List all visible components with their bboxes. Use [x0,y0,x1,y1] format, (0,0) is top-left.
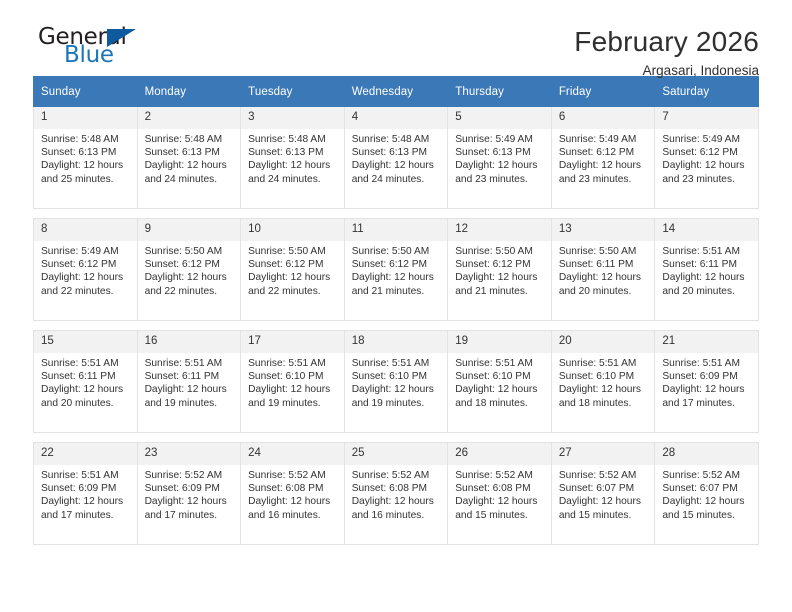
week-separator [34,209,759,219]
day-number: 19 [448,331,551,353]
sunrise-text: Sunrise: 5:52 AM [248,469,339,482]
sunrise-text: Sunrise: 5:52 AM [559,469,650,482]
day-details: Sunrise: 5:48 AM Sunset: 6:13 PM Dayligh… [241,129,344,186]
day-details: Sunrise: 5:49 AM Sunset: 6:12 PM Dayligh… [34,241,137,298]
day-number: 24 [241,443,344,465]
day-number: 17 [241,331,344,353]
daylight-text: Daylight: 12 hours and 21 minutes. [352,271,443,297]
calendar-week-row: 8 Sunrise: 5:49 AM Sunset: 6:12 PM Dayli… [34,219,759,321]
calendar-page: General Blue February 2026 Argasari, Ind… [0,0,792,612]
day-details: Sunrise: 5:50 AM Sunset: 6:12 PM Dayligh… [448,241,551,298]
day-cell[interactable]: 11 Sunrise: 5:50 AM Sunset: 6:12 PM Dayl… [344,219,448,321]
sunset-text: Sunset: 6:10 PM [352,370,443,383]
day-cell[interactable]: 8 Sunrise: 5:49 AM Sunset: 6:12 PM Dayli… [34,219,138,321]
day-details: Sunrise: 5:51 AM Sunset: 6:10 PM Dayligh… [448,353,551,410]
day-details: Sunrise: 5:50 AM Sunset: 6:12 PM Dayligh… [241,241,344,298]
page-subtitle: Argasari, Indonesia [574,63,759,79]
sunrise-text: Sunrise: 5:48 AM [352,133,443,146]
daylight-text: Daylight: 12 hours and 22 minutes. [41,271,132,297]
day-details: Sunrise: 5:49 AM Sunset: 6:13 PM Dayligh… [448,129,551,186]
column-header-monday: Monday [137,77,241,107]
sunrise-text: Sunrise: 5:49 AM [41,245,132,258]
sunrise-text: Sunrise: 5:51 AM [662,245,753,258]
day-number: 12 [448,219,551,241]
day-cell[interactable]: 21 Sunrise: 5:51 AM Sunset: 6:09 PM Dayl… [655,331,759,433]
sunrise-text: Sunrise: 5:50 AM [145,245,236,258]
day-details: Sunrise: 5:51 AM Sunset: 6:09 PM Dayligh… [34,465,137,522]
sunset-text: Sunset: 6:11 PM [41,370,132,383]
sunrise-text: Sunrise: 5:51 AM [662,357,753,370]
day-details: Sunrise: 5:50 AM Sunset: 6:12 PM Dayligh… [345,241,448,298]
daylight-text: Daylight: 12 hours and 15 minutes. [559,495,650,521]
sunset-text: Sunset: 6:12 PM [455,258,546,271]
sunset-text: Sunset: 6:13 PM [455,146,546,159]
sunset-text: Sunset: 6:12 PM [248,258,339,271]
sunset-text: Sunset: 6:07 PM [662,482,753,495]
sunrise-text: Sunrise: 5:48 AM [145,133,236,146]
day-details: Sunrise: 5:51 AM Sunset: 6:10 PM Dayligh… [552,353,655,410]
day-details: Sunrise: 5:50 AM Sunset: 6:12 PM Dayligh… [138,241,241,298]
day-number: 22 [34,443,137,465]
sunset-text: Sunset: 6:09 PM [41,482,132,495]
day-details: Sunrise: 5:52 AM Sunset: 6:08 PM Dayligh… [345,465,448,522]
day-cell[interactable]: 18 Sunrise: 5:51 AM Sunset: 6:10 PM Dayl… [344,331,448,433]
sunset-text: Sunset: 6:07 PM [559,482,650,495]
daylight-text: Daylight: 12 hours and 24 minutes. [352,159,443,185]
brand-logo[interactable]: General Blue [33,26,153,72]
day-details: Sunrise: 5:48 AM Sunset: 6:13 PM Dayligh… [138,129,241,186]
day-cell[interactable]: 19 Sunrise: 5:51 AM Sunset: 6:10 PM Dayl… [448,331,552,433]
daylight-text: Daylight: 12 hours and 23 minutes. [662,159,753,185]
column-header-tuesday: Tuesday [241,77,345,107]
day-cell[interactable]: 9 Sunrise: 5:50 AM Sunset: 6:12 PM Dayli… [137,219,241,321]
day-number: 4 [345,107,448,129]
sunset-text: Sunset: 6:10 PM [559,370,650,383]
calendar-week-row: 22 Sunrise: 5:51 AM Sunset: 6:09 PM Dayl… [34,443,759,545]
sunrise-text: Sunrise: 5:51 AM [41,357,132,370]
daylight-text: Daylight: 12 hours and 20 minutes. [41,383,132,409]
sunrise-text: Sunrise: 5:50 AM [352,245,443,258]
calendar-table: Sunday Monday Tuesday Wednesday Thursday… [33,76,759,545]
page-header: General Blue February 2026 Argasari, Ind… [33,0,759,72]
sunset-text: Sunset: 6:09 PM [662,370,753,383]
week-separator-cell [34,209,759,219]
week-separator [34,433,759,443]
sunrise-text: Sunrise: 5:51 AM [248,357,339,370]
day-cell[interactable]: 24 Sunrise: 5:52 AM Sunset: 6:08 PM Dayl… [241,443,345,545]
sunrise-text: Sunrise: 5:49 AM [662,133,753,146]
daylight-text: Daylight: 12 hours and 19 minutes. [248,383,339,409]
day-number: 23 [138,443,241,465]
sunrise-text: Sunrise: 5:51 AM [352,357,443,370]
sunset-text: Sunset: 6:08 PM [455,482,546,495]
calendar-week-row: 1 Sunrise: 5:48 AM Sunset: 6:13 PM Dayli… [34,107,759,209]
calendar-body: 1 Sunrise: 5:48 AM Sunset: 6:13 PM Dayli… [34,107,759,545]
calendar-week-row: 15 Sunrise: 5:51 AM Sunset: 6:11 PM Dayl… [34,331,759,433]
day-details: Sunrise: 5:48 AM Sunset: 6:13 PM Dayligh… [34,129,137,186]
daylight-text: Daylight: 12 hours and 17 minutes. [41,495,132,521]
sunset-text: Sunset: 6:09 PM [145,482,236,495]
daylight-text: Daylight: 12 hours and 15 minutes. [455,495,546,521]
daylight-text: Daylight: 12 hours and 24 minutes. [145,159,236,185]
daylight-text: Daylight: 12 hours and 24 minutes. [248,159,339,185]
day-cell[interactable]: 16 Sunrise: 5:51 AM Sunset: 6:11 PM Dayl… [137,331,241,433]
day-cell[interactable]: 23 Sunrise: 5:52 AM Sunset: 6:09 PM Dayl… [137,443,241,545]
daylight-text: Daylight: 12 hours and 22 minutes. [248,271,339,297]
day-cell[interactable]: 1 Sunrise: 5:48 AM Sunset: 6:13 PM Dayli… [34,107,138,209]
day-number: 7 [655,107,758,129]
day-cell[interactable]: 28 Sunrise: 5:52 AM Sunset: 6:07 PM Dayl… [655,443,759,545]
sunset-text: Sunset: 6:12 PM [559,146,650,159]
sunset-text: Sunset: 6:12 PM [352,258,443,271]
sunset-text: Sunset: 6:11 PM [559,258,650,271]
sunrise-text: Sunrise: 5:51 AM [145,357,236,370]
day-details: Sunrise: 5:51 AM Sunset: 6:11 PM Dayligh… [655,241,758,298]
column-header-sunday: Sunday [34,77,138,107]
day-number: 1 [34,107,137,129]
day-cell[interactable]: 26 Sunrise: 5:52 AM Sunset: 6:08 PM Dayl… [448,443,552,545]
sunrise-text: Sunrise: 5:51 AM [455,357,546,370]
day-cell[interactable]: 27 Sunrise: 5:52 AM Sunset: 6:07 PM Dayl… [551,443,655,545]
day-cell[interactable]: 17 Sunrise: 5:51 AM Sunset: 6:10 PM Dayl… [241,331,345,433]
brand-name-blue: Blue [64,44,114,67]
title-block: February 2026 Argasari, Indonesia [574,26,759,79]
day-cell[interactable]: 3 Sunrise: 5:48 AM Sunset: 6:13 PM Dayli… [241,107,345,209]
week-separator [34,321,759,331]
daylight-text: Daylight: 12 hours and 25 minutes. [41,159,132,185]
sunrise-text: Sunrise: 5:49 AM [455,133,546,146]
daylight-text: Daylight: 12 hours and 20 minutes. [662,271,753,297]
daylight-text: Daylight: 12 hours and 19 minutes. [352,383,443,409]
sunrise-text: Sunrise: 5:50 AM [248,245,339,258]
sunset-text: Sunset: 6:10 PM [455,370,546,383]
day-cell[interactable]: 13 Sunrise: 5:50 AM Sunset: 6:11 PM Dayl… [551,219,655,321]
day-details: Sunrise: 5:52 AM Sunset: 6:08 PM Dayligh… [241,465,344,522]
sunset-text: Sunset: 6:12 PM [41,258,132,271]
day-cell[interactable]: 10 Sunrise: 5:50 AM Sunset: 6:12 PM Dayl… [241,219,345,321]
sunset-text: Sunset: 6:08 PM [248,482,339,495]
sunrise-text: Sunrise: 5:48 AM [248,133,339,146]
day-number: 5 [448,107,551,129]
sunrise-text: Sunrise: 5:51 AM [41,469,132,482]
day-number: 27 [552,443,655,465]
sunset-text: Sunset: 6:13 PM [352,146,443,159]
week-separator-cell [34,321,759,331]
day-cell[interactable]: 4 Sunrise: 5:48 AM Sunset: 6:13 PM Dayli… [344,107,448,209]
sunrise-text: Sunrise: 5:51 AM [559,357,650,370]
daylight-text: Daylight: 12 hours and 22 minutes. [145,271,236,297]
daylight-text: Daylight: 12 hours and 18 minutes. [559,383,650,409]
day-number: 21 [655,331,758,353]
daylight-text: Daylight: 12 hours and 17 minutes. [662,383,753,409]
daylight-text: Daylight: 12 hours and 23 minutes. [559,159,650,185]
day-number: 13 [552,219,655,241]
day-details: Sunrise: 5:51 AM Sunset: 6:09 PM Dayligh… [655,353,758,410]
sunset-text: Sunset: 6:08 PM [352,482,443,495]
day-details: Sunrise: 5:52 AM Sunset: 6:09 PM Dayligh… [138,465,241,522]
day-number: 14 [655,219,758,241]
day-cell[interactable]: 6 Sunrise: 5:49 AM Sunset: 6:12 PM Dayli… [551,107,655,209]
day-details: Sunrise: 5:52 AM Sunset: 6:07 PM Dayligh… [655,465,758,522]
sunrise-text: Sunrise: 5:52 AM [662,469,753,482]
page-title: February 2026 [574,26,759,57]
day-details: Sunrise: 5:50 AM Sunset: 6:11 PM Dayligh… [552,241,655,298]
daylight-text: Daylight: 12 hours and 18 minutes. [455,383,546,409]
day-number: 25 [345,443,448,465]
daylight-text: Daylight: 12 hours and 16 minutes. [248,495,339,521]
day-number: 3 [241,107,344,129]
sunrise-text: Sunrise: 5:49 AM [559,133,650,146]
day-number: 6 [552,107,655,129]
day-cell[interactable]: 25 Sunrise: 5:52 AM Sunset: 6:08 PM Dayl… [344,443,448,545]
day-number: 18 [345,331,448,353]
day-cell[interactable]: 5 Sunrise: 5:49 AM Sunset: 6:13 PM Dayli… [448,107,552,209]
day-number: 20 [552,331,655,353]
day-number: 9 [138,219,241,241]
day-number: 2 [138,107,241,129]
sunset-text: Sunset: 6:11 PM [145,370,236,383]
sunrise-text: Sunrise: 5:52 AM [352,469,443,482]
sunset-text: Sunset: 6:11 PM [662,258,753,271]
daylight-text: Daylight: 12 hours and 19 minutes. [145,383,236,409]
day-cell[interactable]: 2 Sunrise: 5:48 AM Sunset: 6:13 PM Dayli… [137,107,241,209]
day-details: Sunrise: 5:51 AM Sunset: 6:10 PM Dayligh… [345,353,448,410]
sunset-text: Sunset: 6:13 PM [248,146,339,159]
day-details: Sunrise: 5:49 AM Sunset: 6:12 PM Dayligh… [655,129,758,186]
sunrise-text: Sunrise: 5:48 AM [41,133,132,146]
column-header-friday: Friday [551,77,655,107]
daylight-text: Daylight: 12 hours and 17 minutes. [145,495,236,521]
day-details: Sunrise: 5:51 AM Sunset: 6:10 PM Dayligh… [241,353,344,410]
week-separator-cell [34,433,759,443]
daylight-text: Daylight: 12 hours and 20 minutes. [559,271,650,297]
sunset-text: Sunset: 6:10 PM [248,370,339,383]
sunrise-text: Sunrise: 5:52 AM [145,469,236,482]
daylight-text: Daylight: 12 hours and 16 minutes. [352,495,443,521]
day-cell[interactable]: 22 Sunrise: 5:51 AM Sunset: 6:09 PM Dayl… [34,443,138,545]
column-header-thursday: Thursday [448,77,552,107]
day-number: 16 [138,331,241,353]
day-number: 28 [655,443,758,465]
sunrise-text: Sunrise: 5:50 AM [559,245,650,258]
calendar-header-row: Sunday Monday Tuesday Wednesday Thursday… [34,77,759,107]
daylight-text: Daylight: 12 hours and 21 minutes. [455,271,546,297]
day-cell[interactable]: 12 Sunrise: 5:50 AM Sunset: 6:12 PM Dayl… [448,219,552,321]
sunrise-text: Sunrise: 5:52 AM [455,469,546,482]
sunset-text: Sunset: 6:13 PM [41,146,132,159]
sunset-text: Sunset: 6:12 PM [145,258,236,271]
sunset-text: Sunset: 6:13 PM [145,146,236,159]
sunset-text: Sunset: 6:12 PM [662,146,753,159]
day-details: Sunrise: 5:49 AM Sunset: 6:12 PM Dayligh… [552,129,655,186]
column-header-saturday: Saturday [655,77,759,107]
day-cell[interactable]: 15 Sunrise: 5:51 AM Sunset: 6:11 PM Dayl… [34,331,138,433]
daylight-text: Daylight: 12 hours and 15 minutes. [662,495,753,521]
day-number: 10 [241,219,344,241]
day-details: Sunrise: 5:51 AM Sunset: 6:11 PM Dayligh… [34,353,137,410]
day-cell[interactable]: 14 Sunrise: 5:51 AM Sunset: 6:11 PM Dayl… [655,219,759,321]
day-cell[interactable]: 7 Sunrise: 5:49 AM Sunset: 6:12 PM Dayli… [655,107,759,209]
day-cell[interactable]: 20 Sunrise: 5:51 AM Sunset: 6:10 PM Dayl… [551,331,655,433]
day-details: Sunrise: 5:51 AM Sunset: 6:11 PM Dayligh… [138,353,241,410]
day-number: 11 [345,219,448,241]
day-details: Sunrise: 5:52 AM Sunset: 6:07 PM Dayligh… [552,465,655,522]
column-header-wednesday: Wednesday [344,77,448,107]
day-number: 26 [448,443,551,465]
day-details: Sunrise: 5:48 AM Sunset: 6:13 PM Dayligh… [345,129,448,186]
sunrise-text: Sunrise: 5:50 AM [455,245,546,258]
daylight-text: Daylight: 12 hours and 23 minutes. [455,159,546,185]
day-number: 8 [34,219,137,241]
day-number: 15 [34,331,137,353]
day-details: Sunrise: 5:52 AM Sunset: 6:08 PM Dayligh… [448,465,551,522]
